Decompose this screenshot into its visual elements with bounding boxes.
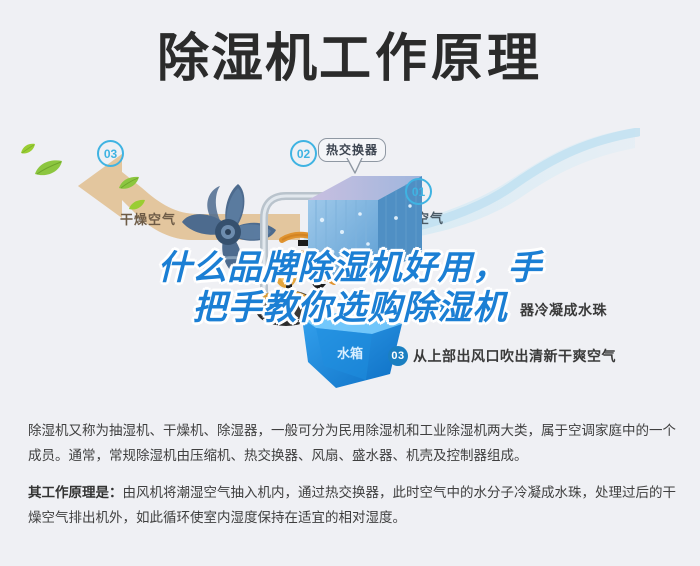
step-caption-02-text: 器冷凝成水珠 [520, 300, 607, 320]
leaf-icon [128, 198, 146, 212]
leaf-icon [20, 142, 36, 156]
paragraph-1: 除湿机又称为抽湿机、干燥机、除湿器，一般可分为民用除湿机和工业除湿机两大类，属于… [28, 418, 680, 468]
badge-step-02: 02 [290, 140, 317, 167]
badge-step-01: 01 [405, 178, 432, 205]
svg-text:水箱: 水箱 [337, 346, 363, 361]
paragraph-2-rest: 由风机将潮湿空气抽入机内，通过热交换器，此时空气中的水分子冷凝成水珠，处理过后的… [28, 485, 676, 525]
air-inlet-arrow-icon [398, 293, 468, 319]
badge-step-03: 03 [97, 140, 124, 167]
heat-exchanger-callout: 热交换器 [318, 138, 386, 162]
step-caption-03-text: 从上部出风口吹出清新干爽空气 [413, 346, 616, 366]
step-caption-03: 03 从上部出风口吹出清新干爽空气 [388, 346, 616, 366]
paragraph-2: 其工作原理是：由风机将潮湿空气抽入机内，通过热交换器，此时空气中的水分子冷凝成水… [28, 480, 680, 530]
page-title: 除湿机工作原理 [0, 28, 700, 90]
callout-tail-icon [346, 158, 364, 179]
leaf-icon [34, 158, 64, 178]
leaf-icon [118, 175, 140, 191]
paragraph-2-lead: 其工作原理是： [28, 485, 123, 500]
step-caption-02: 02 器冷凝成水珠 [520, 300, 607, 320]
infographic-page: 除湿机工作原理 干燥空气 [0, 0, 700, 566]
title-part-2: 工作原理 [319, 30, 543, 88]
article-body: 除湿机又称为抽湿机、干燥机、除湿器，一般可分为民用除湿机和工业除湿机两大类，属于… [28, 418, 680, 542]
title-part-1: 除湿机 [157, 30, 319, 88]
step-caption-03-badge: 03 [388, 346, 408, 366]
